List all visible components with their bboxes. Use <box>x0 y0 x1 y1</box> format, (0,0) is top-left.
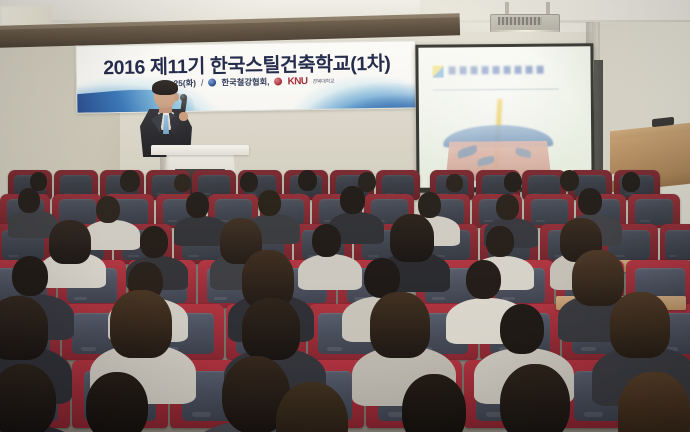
seal-icon-knu <box>274 77 282 85</box>
seat <box>628 194 680 228</box>
projector-vent <box>498 17 542 25</box>
banner-org-primary: 한국철강협회, <box>221 76 269 89</box>
banner-separator: / <box>201 78 204 88</box>
banner-org-secondary-mark: KNU <box>287 76 307 87</box>
presenter-ear <box>174 93 179 101</box>
seat <box>660 224 690 264</box>
presenter-hand <box>179 112 188 121</box>
event-banner: 2016 제11기 한국스틸건축학교(1차) .10.25(화) / 한국철강협… <box>75 40 416 113</box>
banner-org-secondary-sub: 경북대학교 <box>312 77 334 84</box>
podium-top <box>151 145 249 155</box>
microphone-head-icon <box>180 94 187 101</box>
projection-screen-surface <box>418 46 591 187</box>
seal-icon-ksa <box>208 78 216 86</box>
slide-title-text <box>449 66 545 75</box>
slide-logo-icon <box>433 66 444 78</box>
presenter <box>136 82 198 154</box>
lecture-hall-photo: 2016 제11기 한국스틸건축학교(1차) .10.25(화) / 한국철강협… <box>0 0 690 432</box>
auditorium-seats <box>0 168 690 432</box>
